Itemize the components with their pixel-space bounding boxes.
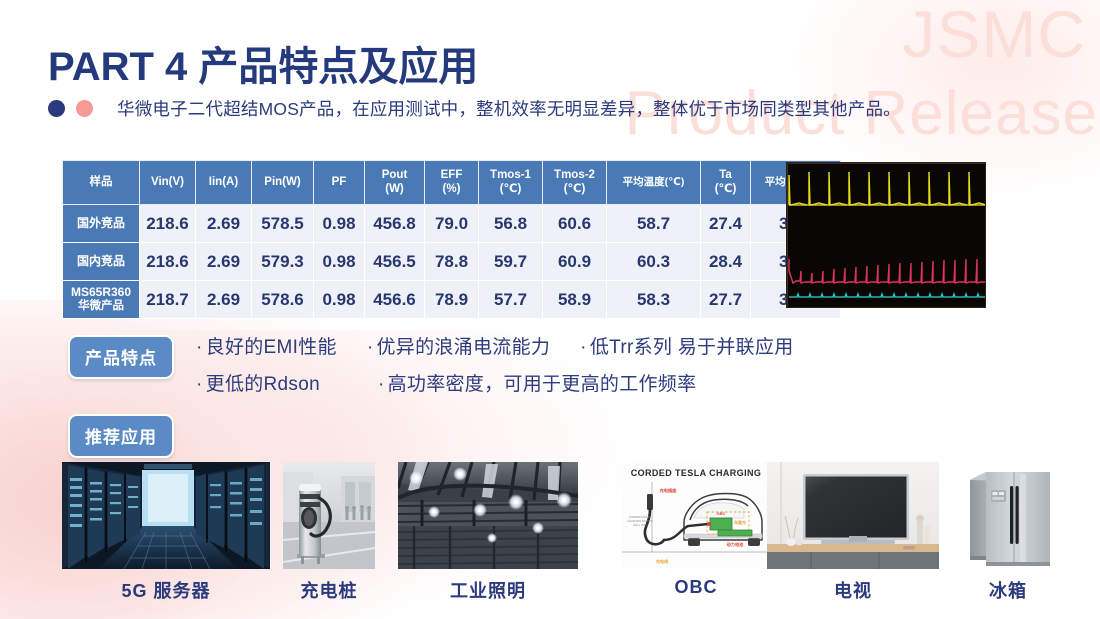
row-label-domestic: 国内竞品 <box>63 243 140 281</box>
cell: 579.3 <box>252 243 314 281</box>
cell: 27.4 <box>701 205 751 243</box>
svg-text:充电线: 充电线 <box>656 558 669 565</box>
bullet-glyph-icon: · <box>367 337 374 358</box>
bullet-glyph-icon: · <box>580 337 587 358</box>
cell: 28.4 <box>701 243 751 281</box>
application-item-industrial-lighting[interactable]: 工业照明 <box>398 462 578 603</box>
cell: 27.7 <box>701 281 751 319</box>
application-item-refrigerator[interactable]: 冰箱 <box>958 462 1058 603</box>
page-title: PART 4 产品特点及应用 <box>48 34 478 92</box>
features-row-2: ·更低的Rdson ·高功率密度，可用于更高的工作频率 <box>196 369 986 406</box>
feature-item: ·更低的Rdson <box>196 369 320 396</box>
applications-gallery: 5G 服务器 <box>0 462 1100 612</box>
features-row-1: ·良好的EMI性能 ·优异的浪涌电流能力 ·低Trr系列 易于并联应用 <box>196 332 986 369</box>
svg-text:CHARGING STATION: CHARGING STATION <box>627 519 653 523</box>
subtitle-row: 华微电子二代超结MOS产品，在应用测试中，整机效率无明显差异，整体优于市场同类型… <box>48 96 901 121</box>
col-header-vin: Vin(V) <box>140 161 196 205</box>
cell: 218.6 <box>140 243 196 281</box>
table-body: 国外竞品 218.6 2.69 578.5 0.98 456.8 79.0 56… <box>63 205 841 319</box>
col-header-sample: 样品 <box>63 161 140 205</box>
cell: 2.69 <box>196 205 252 243</box>
thumbnail-corded-tesla-charging-diagram: CORDED TESLA CHARGING 充电插座 CORDED FAST E… <box>622 462 770 569</box>
svg-text:CORDED FAST EV: CORDED FAST EV <box>629 515 652 519</box>
table-header-row: 样品 Vin(V) Iin(A) Pin(W) PF Pout(W) EFF(%… <box>63 161 841 205</box>
cell: 78.9 <box>425 281 479 319</box>
oscilloscope-screenshot <box>786 162 986 308</box>
col-header-iin: Iin(A) <box>196 161 252 205</box>
cell: 58.9 <box>543 281 607 319</box>
application-caption: 电视 <box>767 577 939 603</box>
cell: 218.7 <box>140 281 196 319</box>
feature-item: ·低Trr系列 易于并联应用 <box>580 332 793 359</box>
cell: 456.8 <box>365 205 425 243</box>
cell: 78.8 <box>425 243 479 281</box>
application-item-tv[interactable]: 电视 <box>767 462 939 603</box>
application-caption: 工业照明 <box>398 577 578 603</box>
col-header-ta: Ta(℃) <box>701 161 751 205</box>
feature-item: ·高功率密度，可用于更高的工作频率 <box>378 369 696 396</box>
thumbnail-data-center-server-room <box>62 462 270 569</box>
svg-text:动力电池: 动力电池 <box>727 541 745 548</box>
cell: 60.3 <box>607 243 701 281</box>
cell: 59.7 <box>479 243 543 281</box>
bullet-glyph-icon: · <box>196 337 203 358</box>
features-section-pill[interactable]: 产品特点 <box>68 335 174 379</box>
cell: 2.69 <box>196 243 252 281</box>
row-label-huawei-product: MS65R360 华微产品 <box>63 281 140 319</box>
col-header-pin: Pin(W) <box>252 161 314 205</box>
cell: 0.98 <box>314 281 365 319</box>
cell: 218.6 <box>140 205 196 243</box>
cell: 60.6 <box>543 205 607 243</box>
cell: 578.5 <box>252 205 314 243</box>
applications-section-pill[interactable]: 推荐应用 <box>68 414 174 458</box>
table-row: MS65R360 华微产品 218.7 2.69 578.6 0.98 456.… <box>63 281 841 319</box>
cell: 79.0 <box>425 205 479 243</box>
cell: 456.6 <box>365 281 425 319</box>
cell: 0.98 <box>314 205 365 243</box>
application-item-charging-pile[interactable]: 充电桩 <box>283 462 375 603</box>
bullet-glyph-icon: · <box>196 374 203 395</box>
table-row: 国内竞品 218.6 2.69 579.3 0.98 456.5 78.8 59… <box>63 243 841 281</box>
cell: 0.98 <box>314 243 365 281</box>
application-item-5g-server[interactable]: 5G 服务器 <box>62 462 270 603</box>
thumbnail-ev-charging-pile <box>283 462 375 569</box>
thumbnail-television-on-sideboard <box>767 462 939 569</box>
oscilloscope-waveform-svg <box>787 163 986 308</box>
col-header-pf: PF <box>314 161 365 205</box>
measurement-table: 样品 Vin(V) Iin(A) Pin(W) PF Pout(W) EFF(%… <box>62 160 841 319</box>
col-header-tmos2: Tmos-2(℃) <box>543 161 607 205</box>
col-header-avg-temp: 平均温度(℃) <box>607 161 701 205</box>
cell: 2.69 <box>196 281 252 319</box>
bullet-dot-pink-icon <box>76 100 93 117</box>
svg-text:车载充: 车载充 <box>734 519 746 525</box>
application-caption: 冰箱 <box>958 577 1058 603</box>
watermark-jsmc: JSMC <box>902 0 1086 72</box>
cell: 57.7 <box>479 281 543 319</box>
cell: 456.5 <box>365 243 425 281</box>
table-row: 国外竞品 218.6 2.69 578.5 0.98 456.8 79.0 56… <box>63 205 841 243</box>
application-caption: 充电桩 <box>283 577 375 603</box>
features-list: ·良好的EMI性能 ·优异的浪涌电流能力 ·低Trr系列 易于并联应用 ·更低的… <box>196 332 986 406</box>
feature-item: ·优异的浪涌电流能力 <box>367 332 550 359</box>
subtitle-text: 华微电子二代超结MOS产品，在应用测试中，整机效率无明显差异，整体优于市场同类型… <box>117 96 901 121</box>
row-label-foreign: 国外竞品 <box>63 205 140 243</box>
col-header-tmos1: Tmos-1(℃) <box>479 161 543 205</box>
thumbnail-side-by-side-refrigerator <box>958 462 1058 569</box>
bullet-glyph-icon: · <box>378 374 385 395</box>
thumbnail-industrial-warehouse-lighting <box>398 462 578 569</box>
col-header-eff: EFF(%) <box>425 161 479 205</box>
cell: 56.8 <box>479 205 543 243</box>
application-item-obc[interactable]: CORDED TESLA CHARGING 充电插座 CORDED FAST E… <box>622 462 770 598</box>
feature-item: ·良好的EMI性能 <box>196 332 337 359</box>
measurement-table-wrapper: 样品 Vin(V) Iin(A) Pin(W) PF Pout(W) EFF(%… <box>62 160 776 319</box>
cell: 578.6 <box>252 281 314 319</box>
bullet-dot-navy-icon <box>48 100 65 117</box>
cell: 60.9 <box>543 243 607 281</box>
cell: 58.7 <box>607 205 701 243</box>
application-caption: 5G 服务器 <box>62 577 270 603</box>
application-caption: OBC <box>622 577 770 598</box>
col-header-pout: Pout(W) <box>365 161 425 205</box>
cell: 58.3 <box>607 281 701 319</box>
svg-text:WALL UNIT: WALL UNIT <box>633 523 647 527</box>
obc-diagram-title: CORDED TESLA CHARGING <box>631 468 762 478</box>
svg-text:充电插座: 充电插座 <box>660 487 678 494</box>
